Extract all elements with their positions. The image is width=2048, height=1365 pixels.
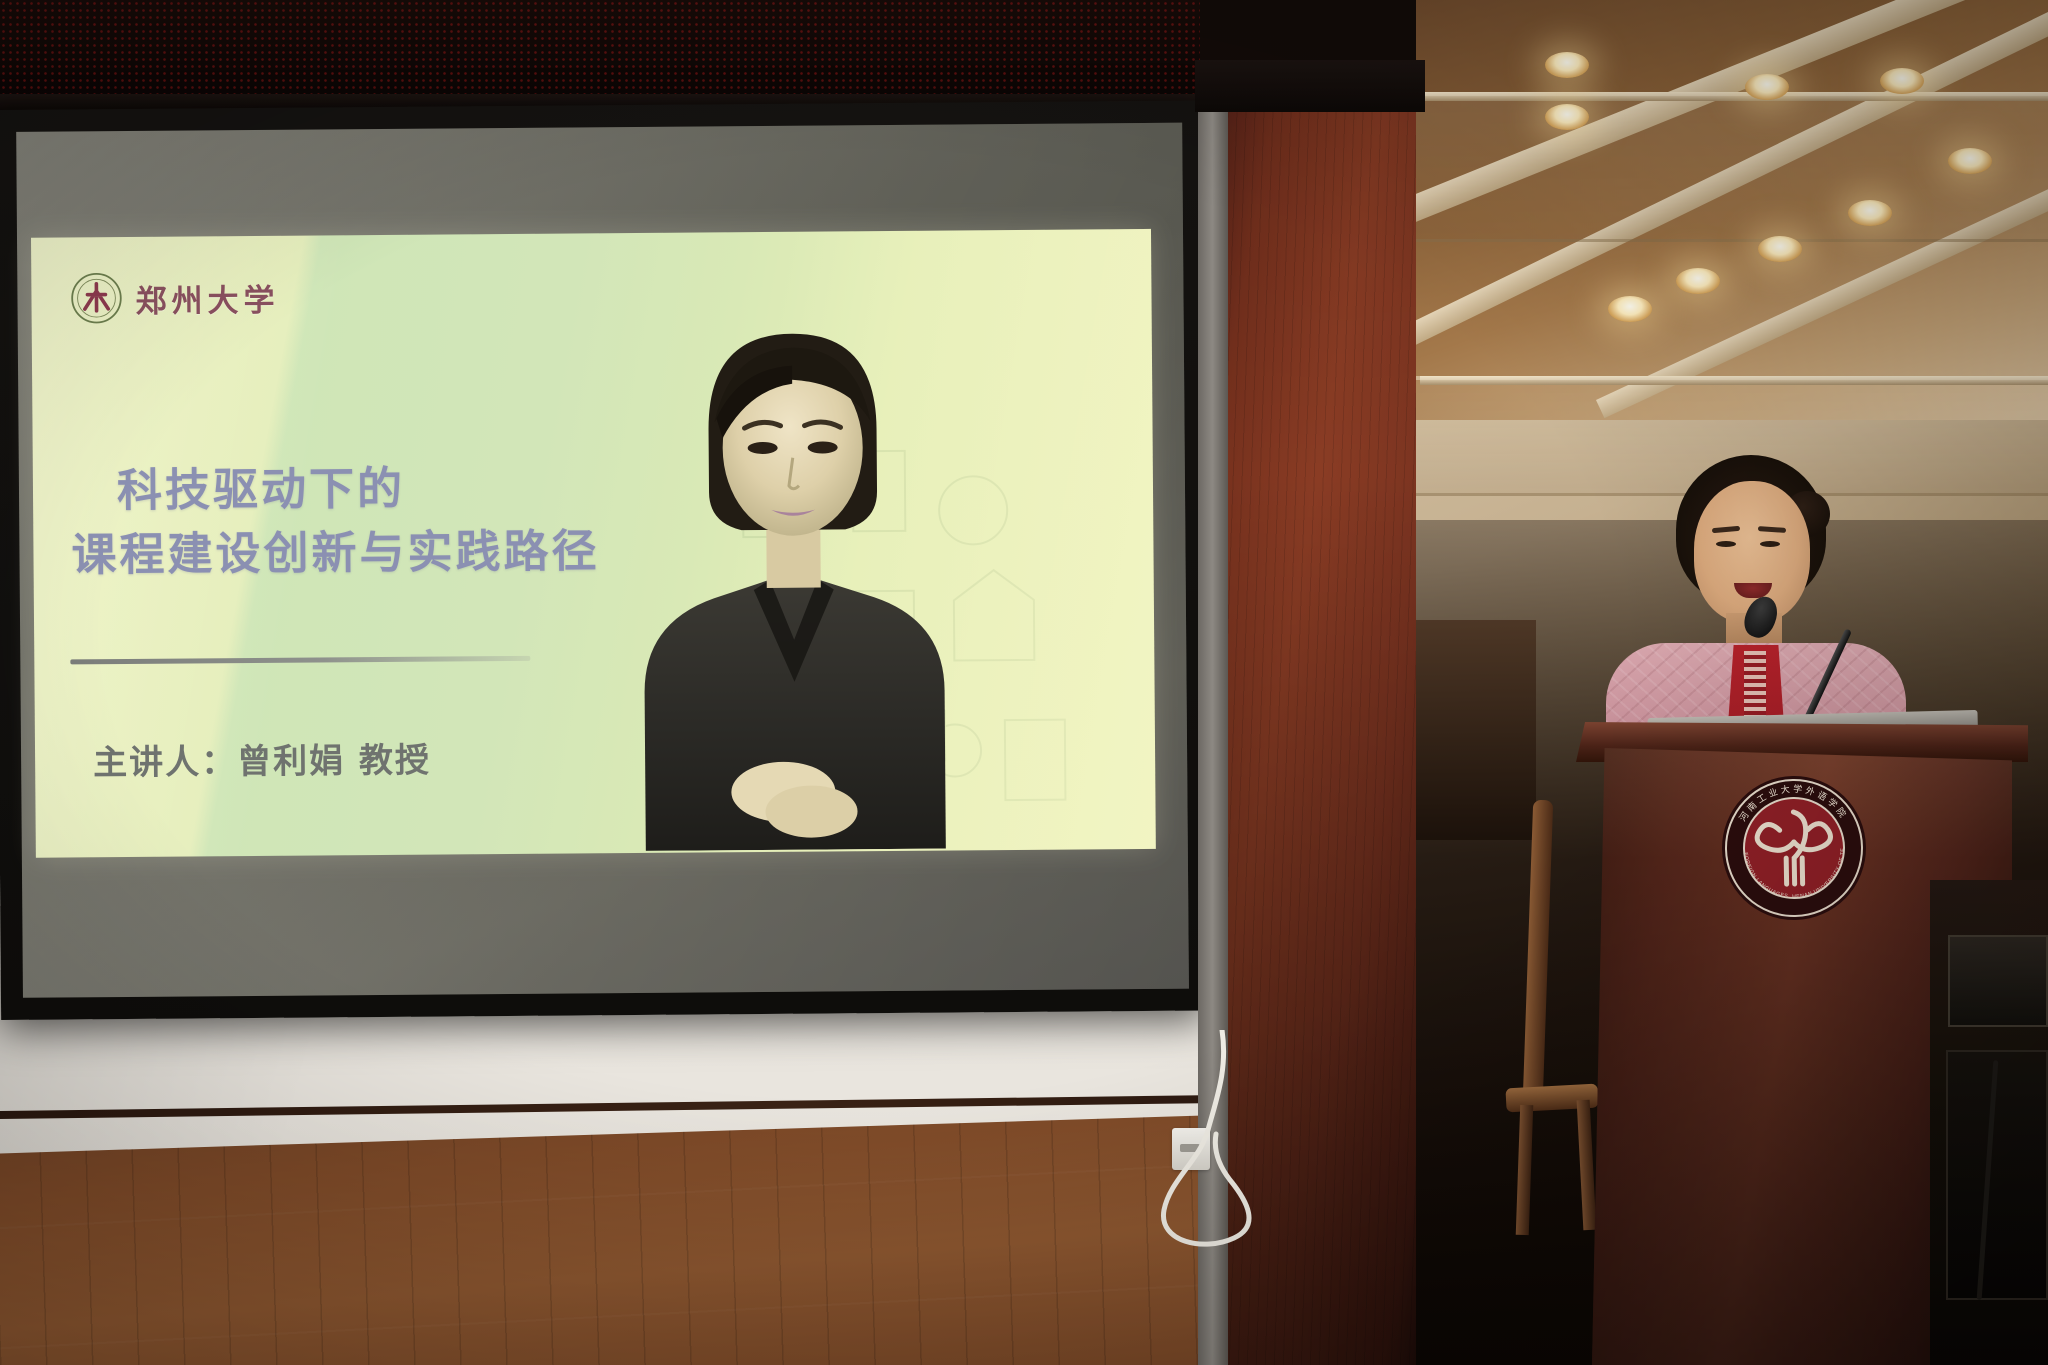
slide-divider-rule	[70, 656, 530, 665]
white-power-cable	[1130, 1030, 1310, 1280]
podium-emblem: 河南工业大学外语学院 SCHOOL OF FOREIGN LANGUAGES, …	[1717, 771, 1872, 926]
slide-title: 科技驱动下的 课程建设创新与实践路径	[117, 455, 600, 587]
projection-screen-frame: 郑州大学	[0, 101, 1206, 1020]
university-seal-icon	[69, 271, 123, 325]
slide-portrait-photo	[601, 270, 986, 851]
ceiling-downlight	[1608, 296, 1652, 322]
equipment-case	[1948, 935, 2048, 1027]
university-logo-text: 郑州大学	[135, 274, 279, 320]
slide-speaker-line: 主讲人：曾利娟 教授	[93, 733, 431, 785]
ceiling-downlight	[1745, 74, 1789, 100]
speaker-eye	[1716, 541, 1736, 547]
equipment-panel	[1946, 1050, 2048, 1300]
slide-title-line-1: 科技驱动下的	[117, 455, 600, 523]
chair-leg	[1577, 1100, 1597, 1231]
chair-back	[1523, 800, 1553, 1101]
ceiling-downlight	[1848, 200, 1892, 226]
ceiling-downlight	[1545, 104, 1589, 130]
presentation-slide: 郑州大学	[31, 229, 1156, 858]
ceiling-downlight	[1880, 68, 1924, 94]
ceiling-downlight	[1676, 268, 1720, 294]
lecture-hall-photo: 郑州大学	[0, 0, 2048, 1365]
acoustic-led-panel	[0, 0, 1200, 108]
wooden-chair	[1488, 800, 1608, 1230]
column-cap	[1195, 60, 1425, 112]
slide-title-line-2: 课程建设创新与实践路径	[71, 519, 600, 587]
ceiling-downlight	[1948, 148, 1992, 174]
speaker-eye	[1760, 541, 1780, 547]
ceiling-downlight	[1758, 236, 1802, 262]
ceiling-downlight	[1545, 52, 1589, 78]
university-logo: 郑州大学	[69, 270, 279, 326]
chair-leg	[1516, 1105, 1534, 1235]
